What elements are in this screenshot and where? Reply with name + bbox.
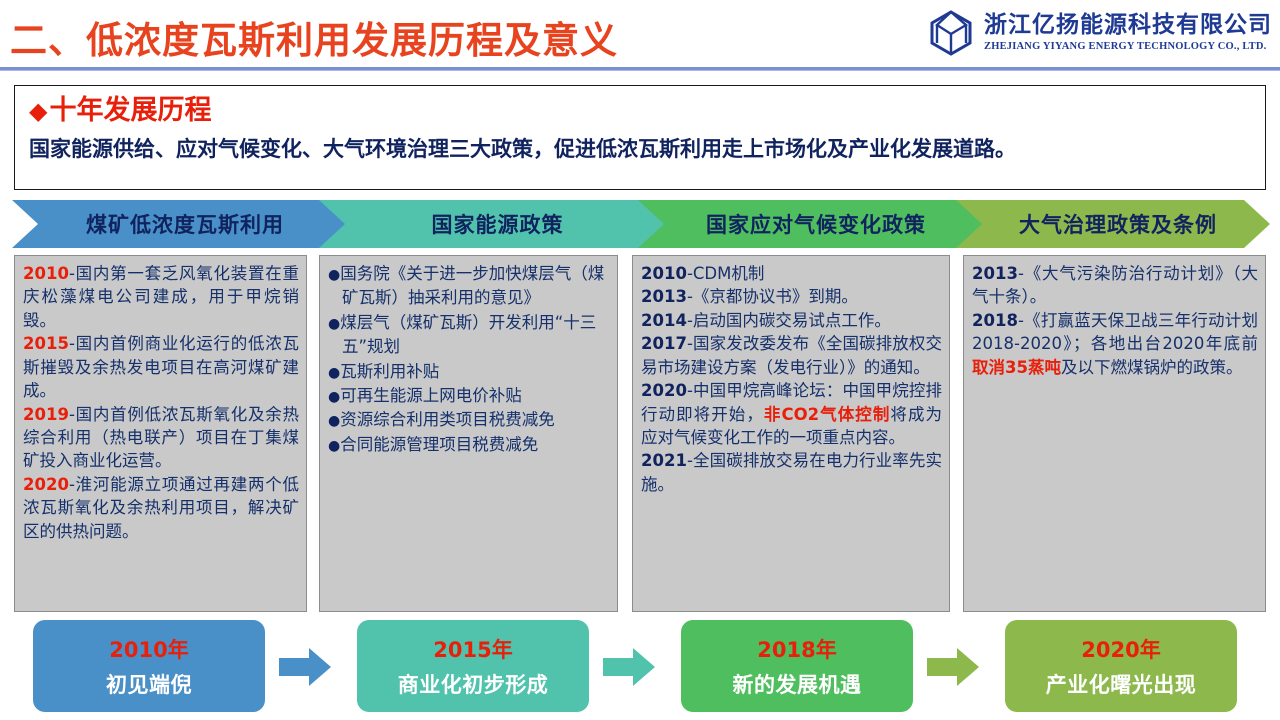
chevron-header-4[interactable]: 大气治理政策及条例	[956, 200, 1270, 248]
bullet-dot-icon: ●	[328, 365, 340, 381]
chevron-header-label: 煤矿低浓度瓦斯利用	[76, 209, 284, 239]
chevron-header-label: 国家能源政策	[422, 209, 564, 239]
timeline-stage-label: 新的发展机遇	[733, 669, 862, 699]
timeline-entry: 2019-国内首例低浓瓦斯氧化及余热综合利用（热电联产）项目在丁集煤矿投入商业化…	[23, 403, 299, 473]
arrow-2010-to-2015-icon	[279, 647, 331, 687]
chevron-header-2[interactable]: 国家能源政策	[319, 200, 666, 248]
entry-year: 2013	[641, 287, 687, 306]
slide-header: 二、低浓度瓦斯利用发展历程及意义 浙江亿扬能源科技有限公司 ZHEJIANG Y…	[0, 0, 1280, 68]
entry-year: 2020	[23, 475, 69, 494]
timeline-stage-year: 2010年	[109, 634, 188, 664]
entry-highlight: 非CO2气体控制	[764, 405, 890, 424]
subtitle-panel: ◆十年发展历程 国家能源供给、应对气候变化、大气环境治理三大政策，促进低浓瓦斯利…	[14, 85, 1266, 190]
list-item: ●国务院《关于进一步加快煤层气（煤矿瓦斯）抽采利用的意见》	[328, 262, 610, 311]
list-item: ●瓦斯利用补贴	[328, 360, 610, 384]
timeline-entry: 2010-国内第一套乏风氧化装置在重庆松藻煤电公司建成，用于甲烷销毁。	[23, 262, 299, 332]
timeline-entry: 2015-国内首例商业化运行的低浓瓦斯摧毁及余热发电项目在高河煤矿建成。	[23, 332, 299, 402]
timeline-entry: 2017-国家发改委发布《全国碳排放权交易市场建设方案（发电行业）》的通知。	[641, 332, 942, 379]
timeline-stage-label: 产业化曙光出现	[1046, 669, 1197, 699]
timeline-stage-2020[interactable]: 2020年产业化曙光出现	[1005, 620, 1237, 712]
list-item: ●可再生能源上网电价补贴	[328, 384, 610, 408]
arrow-2015-to-2018-icon	[603, 647, 655, 687]
entry-year: 2015	[23, 334, 69, 353]
logo-company-name-en: ZHEJIANG YIYANG ENERGY TECHNOLOGY CO., L…	[984, 40, 1272, 54]
timeline-entry: 2013-《京都协议书》到期。	[641, 285, 942, 308]
arrow-2018-to-2020-icon	[927, 647, 979, 687]
timeline-entry: 2014-启动国内碳交易试点工作。	[641, 309, 942, 332]
list-item: ●煤层气（煤矿瓦斯）开发利用“十三五”规划	[328, 311, 610, 360]
list-item: ●合同能源管理项目税费减免	[328, 433, 610, 457]
hexagon-cube-logo-icon	[928, 9, 974, 57]
chevron-header-label: 大气治理政策及条例	[1009, 209, 1217, 239]
header-divider-secondary	[0, 70, 1280, 71]
entry-year: 2010	[23, 264, 69, 283]
entry-year: 2017	[641, 334, 687, 353]
timeline-entry: 2020-淮河能源立项通过再建两个低浓瓦斯氧化及余热利用项目，解决矿区的供热问题…	[23, 473, 299, 543]
subtitle-heading-text: 十年发展历程	[49, 95, 211, 126]
content-box-coal-mine-low-concentration-gas-utilization: 2010-国内第一套乏风氧化装置在重庆松藻煤电公司建成，用于甲烷销毁。2015-…	[14, 255, 307, 612]
subtitle-body-text: 国家能源供给、应对气候变化、大气环境治理三大政策，促进低浓瓦斯利用走上市场化及产…	[29, 136, 1251, 163]
chevron-header-label: 国家应对气候变化政策	[696, 209, 926, 239]
timeline-stage-2018[interactable]: 2018年新的发展机遇	[681, 620, 913, 712]
entry-year: 2010	[641, 264, 687, 283]
timeline-entry: 2013-《大气污染防治行动计划》（大气十条）。	[972, 262, 1258, 309]
content-box-national-climate-change-policy: 2010-CDM机制2013-《京都协议书》到期。2014-启动国内碳交易试点工…	[632, 255, 950, 612]
entry-year: 2019	[23, 405, 69, 424]
timeline-stage-label: 商业化初步形成	[398, 669, 549, 699]
timeline-entry: 2010-CDM机制	[641, 262, 942, 285]
bullet-dot-icon: ●	[328, 267, 340, 283]
timeline-stage-label: 初见端倪	[106, 669, 192, 699]
timeline-entry: 2018-《打赢蓝天保卫战三年行动计划2018-2020》；各地出台2020年底…	[972, 309, 1258, 379]
entry-year: 2014	[641, 311, 687, 330]
timeline-stage-2010[interactable]: 2010年初见端倪	[33, 620, 265, 712]
bullet-dot-icon: ●	[328, 316, 340, 332]
company-logo: 浙江亿扬能源科技有限公司 ZHEJIANG YIYANG ENERGY TECH…	[928, 6, 1272, 60]
timeline-stage-2015[interactable]: 2015年商业化初步形成	[357, 620, 589, 712]
content-box-air-pollution-control-policy: 2013-《大气污染防治行动计划》（大气十条）。2018-《打赢蓝天保卫战三年行…	[963, 255, 1266, 612]
entry-highlight: 取消35蒸吨	[972, 358, 1061, 377]
timeline-stage-year: 2015年	[433, 634, 512, 664]
timeline-stage-year: 2018年	[757, 634, 836, 664]
diamond-bullet-icon: ◆	[29, 97, 47, 125]
chevron-header-3[interactable]: 国家应对气候变化政策	[638, 200, 984, 248]
page-title: 二、低浓度瓦斯利用发展历程及意义	[10, 10, 618, 64]
timeline-entry: 2021-全国碳排放交易在电力行业率先实施。	[641, 449, 942, 496]
bullet-dot-icon: ●	[328, 413, 340, 429]
bullet-dot-icon: ●	[328, 389, 340, 405]
subtitle-heading: ◆十年发展历程	[29, 94, 1251, 128]
entry-year: 2020	[641, 381, 687, 400]
chevron-header-1[interactable]: 煤矿低浓度瓦斯利用	[12, 200, 348, 248]
entry-year: 2018	[972, 311, 1018, 330]
bullet-dot-icon: ●	[328, 438, 340, 454]
timeline-stage-year: 2020年	[1081, 634, 1160, 664]
timeline-entry: 2020-中国甲烷高峰论坛：中国甲烷控排行动即将开始，非CO2气体控制将成为应对…	[641, 379, 942, 449]
list-item: ●资源综合利用类项目税费减免	[328, 408, 610, 432]
content-box-national-energy-policy: ●国务院《关于进一步加快煤层气（煤矿瓦斯）抽采利用的意见》●煤层气（煤矿瓦斯）开…	[319, 255, 618, 612]
logo-company-name-cn: 浙江亿扬能源科技有限公司	[984, 13, 1272, 38]
entry-year: 2021	[641, 451, 687, 470]
chevron-header-row: 煤矿低浓度瓦斯利用国家能源政策国家应对气候变化政策大气治理政策及条例	[12, 200, 1270, 248]
entry-year: 2013	[972, 264, 1018, 283]
